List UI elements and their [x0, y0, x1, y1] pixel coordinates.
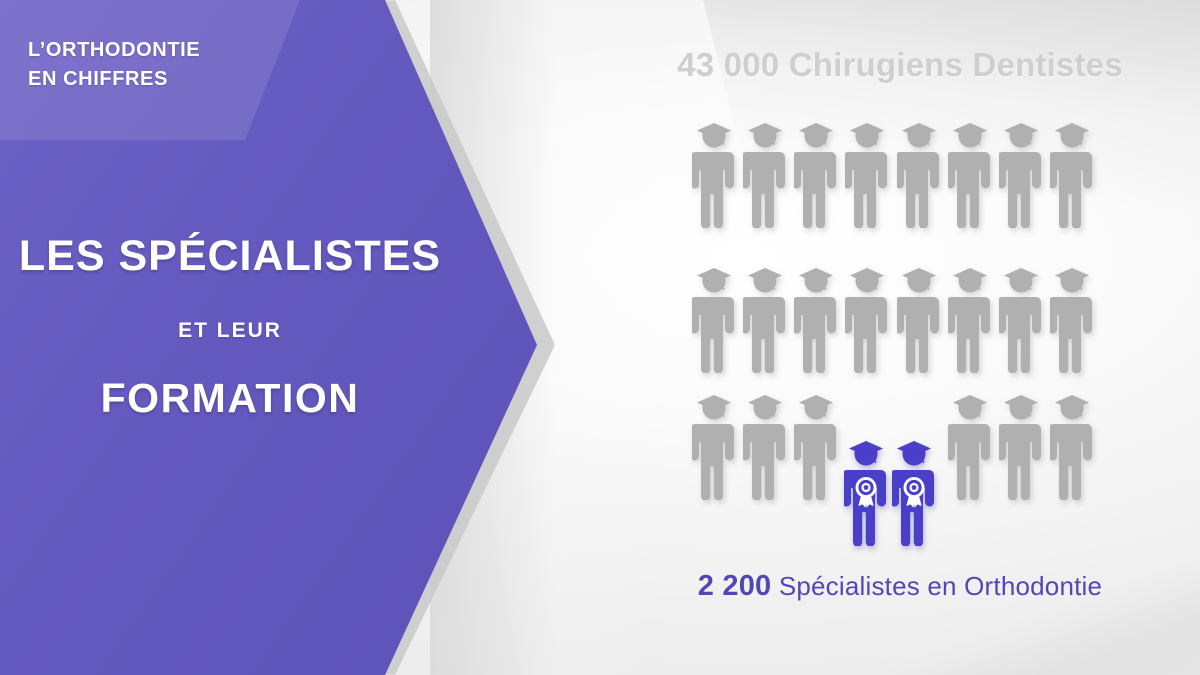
top-stat-label: 43 000 Chirugiens Dentistes [640, 46, 1160, 84]
pictogram-cell [688, 380, 739, 500]
infographic-slide: L’ORTHODONTIE EN CHIFFRES LES SPÉCIALIST… [0, 0, 1200, 675]
headline-subtitle: ET LEUR [0, 319, 460, 343]
pictogram-cell [791, 108, 842, 228]
pictogram-cell [996, 253, 1047, 373]
pictogram-cell [1047, 253, 1098, 373]
kicker-text: L’ORTHODONTIE EN CHIFFRES [28, 36, 328, 94]
specialist-figure-icon [892, 426, 936, 546]
bottom-stat-number: 2 200 [698, 570, 772, 602]
pictogram-cell [893, 108, 944, 228]
pictogram-cell [791, 253, 842, 373]
specialist-figure-icon [844, 426, 888, 546]
bottom-stat-text: Spécialistes en Orthodontie [779, 571, 1102, 601]
pictogram-cell [893, 253, 944, 373]
headline-block: LES SPÉCIALISTES ET LEUR FORMATION [0, 232, 460, 422]
bottom-stat-label: 2 200 Spécialistes en Orthodontie [640, 570, 1160, 603]
pictogram-cell [996, 108, 1047, 228]
page-title: LES SPÉCIALISTES [0, 232, 460, 281]
kicker-line-2: EN CHIFFRES [28, 65, 328, 94]
pictogram-cell [944, 380, 995, 500]
headline-secondary: FORMATION [0, 375, 460, 422]
pictogram-cell [688, 108, 739, 228]
pictogram-cell [944, 253, 995, 373]
pictogram-cell [842, 108, 893, 228]
pictogram-cell [842, 253, 893, 373]
pictogram-row [688, 253, 1098, 373]
pictogram-row [688, 108, 1098, 228]
highlight-specialists-group [844, 426, 936, 546]
pictogram-cell [944, 108, 995, 228]
pictogram-cell [739, 380, 790, 500]
pictogram-cell [1047, 108, 1098, 228]
pictogram-grid [688, 108, 1098, 558]
kicker-line-1: L’ORTHODONTIE [28, 36, 328, 65]
pictogram-cell [791, 380, 842, 500]
pictogram-cell [739, 108, 790, 228]
pictogram-cell [1047, 380, 1098, 500]
pictogram-cell [996, 380, 1047, 500]
pictogram-cell [688, 253, 739, 373]
pictogram-cell [739, 253, 790, 373]
